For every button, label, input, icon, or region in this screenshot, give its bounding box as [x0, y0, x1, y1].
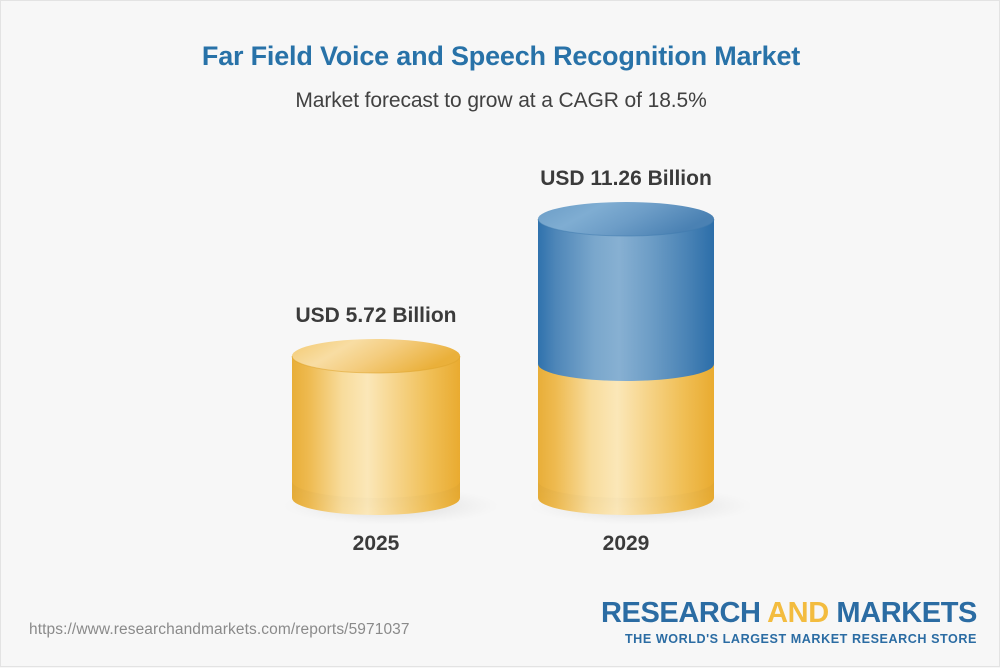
- research-and-markets-logo[interactable]: RESEARCH AND MARKETS THE WORLD'S LARGEST…: [601, 599, 977, 646]
- bar-2025: [283, 339, 499, 525]
- logo-tagline: THE WORLD'S LARGEST MARKET RESEARCH STOR…: [601, 633, 977, 646]
- logo-word-and: AND: [767, 597, 829, 629]
- source-url-link[interactable]: https://www.researchandmarkets.com/repor…: [29, 621, 410, 639]
- value-label-2025: USD 5.72 Billion: [276, 304, 476, 328]
- value-label-2029: USD 11.26 Billion: [516, 167, 736, 191]
- category-label-2025: 2025: [276, 532, 476, 556]
- chart-subtitle: Market forecast to grow at a CAGR of 18.…: [1, 89, 1000, 113]
- logo-word-research: RESEARCH: [601, 597, 767, 629]
- logo-word-markets: MARKETS: [829, 597, 977, 629]
- category-label-2029: 2029: [526, 532, 726, 556]
- logo-wordmark: RESEARCH AND MARKETS: [601, 599, 977, 628]
- chart-title: Far Field Voice and Speech Recognition M…: [1, 41, 1000, 72]
- bar-2029: [529, 202, 753, 525]
- chart-canvas: Far Field Voice and Speech Recognition M…: [0, 0, 1000, 667]
